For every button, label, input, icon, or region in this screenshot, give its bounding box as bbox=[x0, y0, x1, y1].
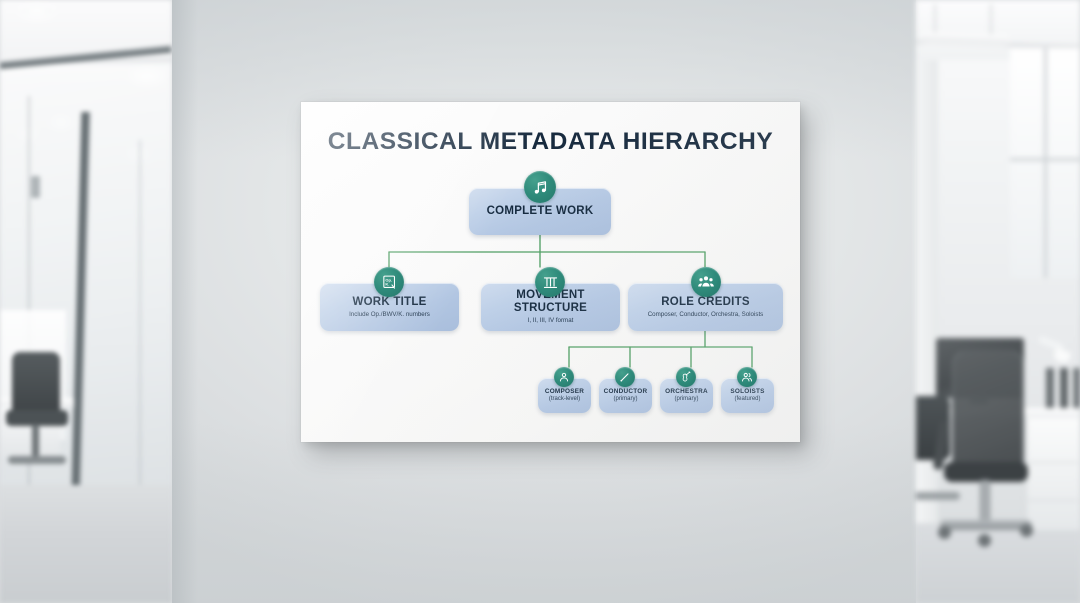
desk-lamp-icon bbox=[1052, 347, 1071, 364]
classical-columns-icon bbox=[535, 267, 565, 297]
node-subtitle: (track-level) bbox=[549, 396, 580, 403]
node-subtitle: (primary) bbox=[675, 396, 699, 403]
node-label: SOLOISTS bbox=[730, 388, 764, 395]
wall-strip bbox=[916, 0, 938, 603]
glass-frame-thin bbox=[139, 140, 141, 500]
cabinet-drawer-line bbox=[1028, 462, 1078, 463]
light-drop-rod bbox=[990, 4, 992, 36]
background-office-left bbox=[0, 0, 172, 603]
page-title: CLASSICAL METADATA HIERARCHY bbox=[301, 128, 800, 156]
node-label-line2: STRUCTURE bbox=[514, 302, 587, 315]
window-mullion bbox=[1044, 48, 1047, 278]
node-label: ROLE CREDITS bbox=[661, 296, 750, 309]
violin-icon bbox=[676, 367, 696, 387]
office-chair-back bbox=[952, 350, 1024, 470]
node-label: WORK TITLE bbox=[352, 296, 426, 309]
window-mullion bbox=[1010, 158, 1080, 161]
office-chair-caster bbox=[1020, 524, 1033, 537]
opus-catalog-tag-icon: Op. K. bbox=[374, 267, 404, 297]
node-label: ORCHESTRA bbox=[665, 388, 708, 395]
cabinet-drawer-line bbox=[1028, 500, 1078, 501]
wall-edge-shadow bbox=[172, 0, 198, 603]
hierarchy-poster: CLASSICAL METADATA HIERARCHY bbox=[301, 102, 800, 442]
baton-icon bbox=[615, 367, 635, 387]
office-chair-post bbox=[32, 424, 39, 458]
office-chair-post bbox=[980, 480, 990, 524]
node-label: COMPLETE WORK bbox=[487, 205, 594, 218]
office-chair-caster bbox=[978, 534, 991, 547]
office-chair-base bbox=[8, 456, 66, 464]
person-icon bbox=[554, 367, 574, 387]
ceiling-light-icon bbox=[22, 6, 52, 16]
background-office-right bbox=[916, 0, 1080, 603]
node-subtitle: (featured) bbox=[734, 396, 760, 403]
node-subtitle: (primary) bbox=[614, 396, 638, 403]
office-chair-back bbox=[12, 352, 60, 414]
cabinet bbox=[1026, 418, 1080, 530]
office-chair-caster bbox=[938, 526, 951, 539]
node-label: CONDUCTOR bbox=[604, 388, 648, 395]
node-label: COMPOSER bbox=[545, 388, 584, 395]
music-note-icon bbox=[524, 171, 556, 203]
node-subtitle: I, II, III, IV format bbox=[528, 317, 574, 324]
node-subtitle: Composer, Conductor, Orchestra, Soloists bbox=[648, 311, 764, 318]
office-chair-base bbox=[916, 492, 960, 500]
node-subtitle: Include Op./BWV/K. numbers bbox=[349, 311, 430, 318]
wall-shade-bottom bbox=[172, 423, 916, 603]
door-handle-icon bbox=[31, 176, 40, 198]
floor bbox=[0, 485, 172, 603]
office-chair-seat bbox=[944, 462, 1028, 482]
light-drop-rod bbox=[934, 4, 936, 36]
office-chair-base bbox=[940, 520, 1032, 530]
svg-text:K.: K. bbox=[385, 281, 389, 286]
people-group-icon bbox=[691, 267, 721, 297]
people-pair-icon bbox=[737, 367, 757, 387]
office-scene: CLASSICAL METADATA HIERARCHY bbox=[0, 0, 1080, 603]
